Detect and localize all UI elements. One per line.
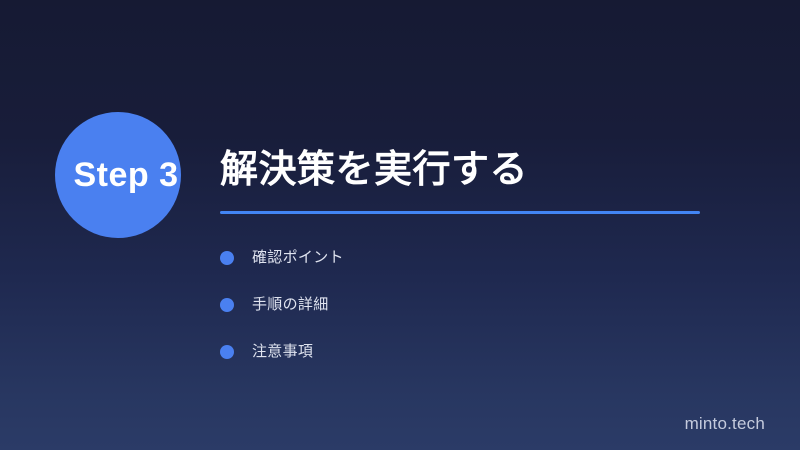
presentation-slide: Step 3 解決策を実行する 確認ポイント 手順の詳細 注意事項 minto.… — [0, 0, 800, 450]
step-badge-label: Step 3 — [46, 155, 206, 195]
bullet-list: 確認ポイント 手順の詳細 注意事項 — [220, 234, 344, 375]
bullet-dot-icon — [220, 345, 234, 359]
list-item: 注意事項 — [220, 328, 344, 375]
list-item-label: 手順の詳細 — [252, 295, 329, 315]
footer-brand: minto.tech — [685, 414, 765, 434]
list-item-label: 注意事項 — [252, 342, 313, 362]
list-item: 手順の詳細 — [220, 281, 344, 328]
bullet-dot-icon — [220, 298, 234, 312]
bullet-dot-icon — [220, 251, 234, 265]
slide-title: 解決策を実行する — [220, 146, 528, 194]
list-item-label: 確認ポイント — [252, 248, 344, 268]
title-divider — [220, 211, 700, 214]
list-item: 確認ポイント — [220, 234, 344, 281]
